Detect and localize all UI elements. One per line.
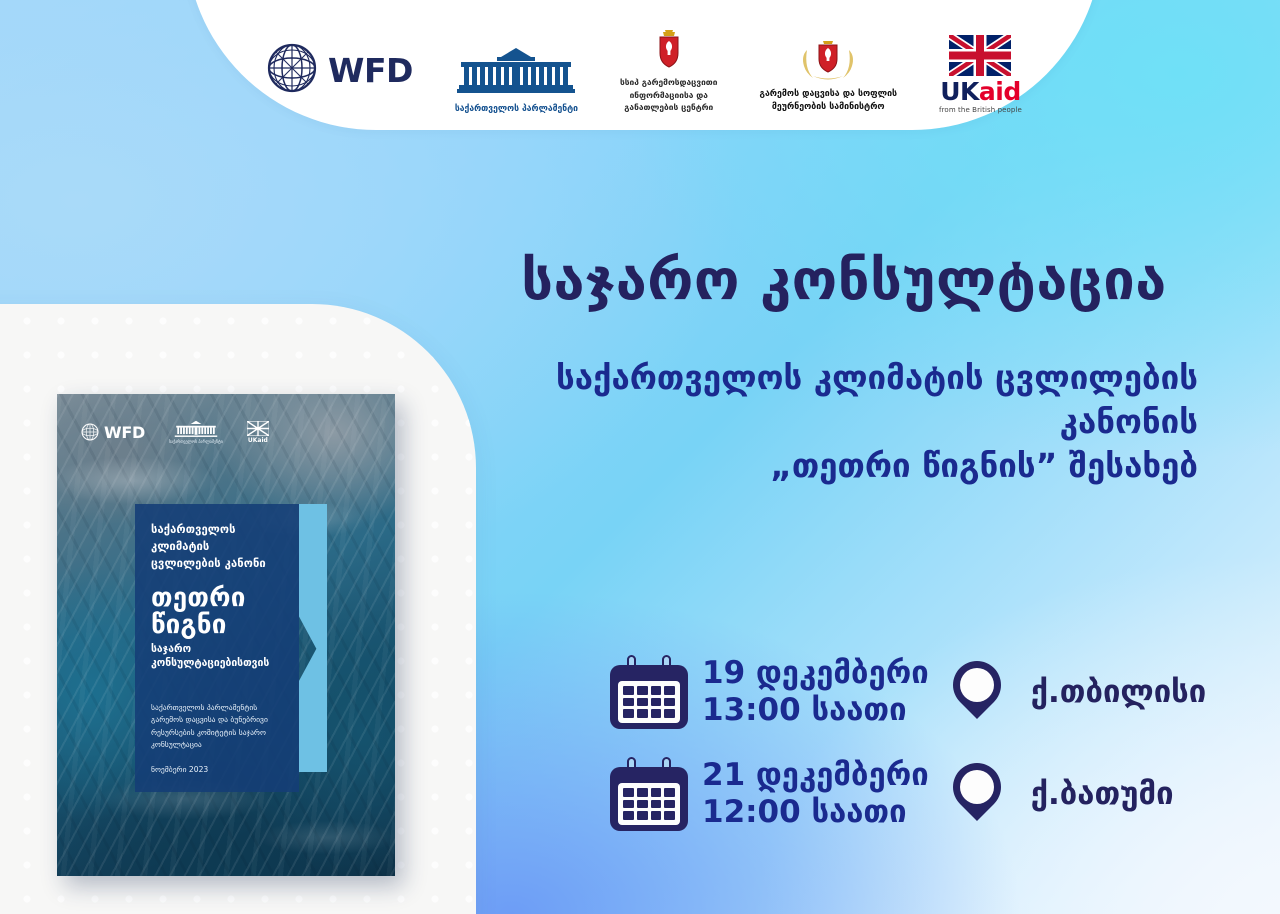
wfd-logo: WFD xyxy=(266,42,413,114)
cover-ukaid-logo: UKaid xyxy=(247,421,269,444)
event-datetime: 19 დეკემბერი 13:00 საათი xyxy=(702,655,929,728)
ukaid-aid-text: aid xyxy=(979,77,1021,106)
location-pin-icon xyxy=(953,661,1001,723)
event-datetime: 21 დეკემბერი 12:00 საათი xyxy=(702,757,929,830)
location-pin-icon xyxy=(953,763,1001,825)
cover-title: თეთრი წიგნი xyxy=(151,585,283,638)
cover-date: ნოემბერი 2023 xyxy=(151,765,283,774)
event-place: ქ.ბათუმი xyxy=(1031,776,1174,812)
environmental-info-centre-caption: სსიპ გარემოსდაცვითი ინფორმაციისა და განა… xyxy=(620,76,717,114)
ministry-of-environment-logo: გარემოს დაცვისა და სოფლის მეურნეობის სამ… xyxy=(759,36,897,114)
main-content: საჯარო კონსულტაცია საქართველოს კლიმატის … xyxy=(470,250,1260,488)
cover-ukaid-text: UKaid xyxy=(248,437,268,444)
event-time: 12:00 საათი xyxy=(702,794,907,830)
calendar-icon xyxy=(610,757,688,831)
event-row: 21 დეკემბერი 12:00 საათი ქ.ბათუმი xyxy=(610,757,1250,831)
cover-logo-strip: WFD საქართველო xyxy=(81,420,377,444)
page-title: საჯარო კონსულტაცია xyxy=(470,250,1218,312)
event-date: 21 დეკემბერი xyxy=(702,757,929,793)
event-time: 13:00 საათი xyxy=(702,692,907,728)
calendar-icon xyxy=(610,655,688,729)
environmental-info-centre-logo: სსიპ გარემოსდაცვითი ინფორმაციისა და განა… xyxy=(620,28,717,114)
event-list: 19 დეკემბერი 13:00 საათი ქ.თბილისი 21 დე… xyxy=(610,655,1250,859)
sponsor-logo-bar: WFD xyxy=(186,0,1102,130)
globe-wireframe-icon xyxy=(81,423,99,441)
ukaid-logo: UKaid from the British people xyxy=(939,35,1022,114)
event-place: ქ.თბილისი xyxy=(1031,674,1207,710)
ukaid-wordmark: UKaid xyxy=(940,79,1021,104)
cover-parliament-caption: საქართველოს პარლამენტი xyxy=(169,439,223,444)
cover-parliament-logo: საქართველოს პარლამენტი xyxy=(169,420,223,444)
white-paper-book-cover: WFD საქართველო xyxy=(57,394,395,876)
georgia-coat-of-arms-icon xyxy=(797,36,859,88)
page-subtitle: საქართველოს კლიმატის ცვლილების კანონის „… xyxy=(470,356,1218,489)
cover-eyebrow: საქართველოს კლიმატის ცვლილების კანონი xyxy=(151,522,283,572)
parliament-building-icon xyxy=(457,46,575,100)
union-jack-flag-icon xyxy=(949,35,1011,76)
ukaid-uk-text: UK xyxy=(940,77,979,106)
cover-body-text: საქართველოს პარლამენტის გარემოს დაცვისა … xyxy=(151,702,283,751)
georgia-small-emblem-icon xyxy=(654,28,684,76)
poster-canvas: WFD xyxy=(0,0,1280,914)
cover-wfd-logo: WFD xyxy=(81,423,145,442)
parliament-of-georgia-logo: საქართველოს პარლამენტი xyxy=(455,46,578,114)
parliament-caption: საქართველოს პარლამენტი xyxy=(455,104,578,114)
cover-subtitle: საჯარო კონსულტაციებისთვის xyxy=(151,643,283,670)
union-jack-flag-icon xyxy=(247,421,269,436)
event-date: 19 დეკემბერი xyxy=(702,655,929,691)
cover-text-panel: საქართველოს კლიმატის ცვლილების კანონი თე… xyxy=(135,504,299,792)
ukaid-tagline: from the British people xyxy=(939,106,1022,114)
globe-wireframe-icon xyxy=(266,42,318,98)
cover-wfd-text: WFD xyxy=(104,423,145,442)
wfd-wordmark: WFD xyxy=(328,51,413,90)
ministry-of-environment-caption: გარემოს დაცვისა და სოფლის მეურნეობის სამ… xyxy=(759,88,897,114)
event-row: 19 დეკემბერი 13:00 საათი ქ.თბილისი xyxy=(610,655,1250,729)
parliament-building-icon xyxy=(173,420,219,438)
